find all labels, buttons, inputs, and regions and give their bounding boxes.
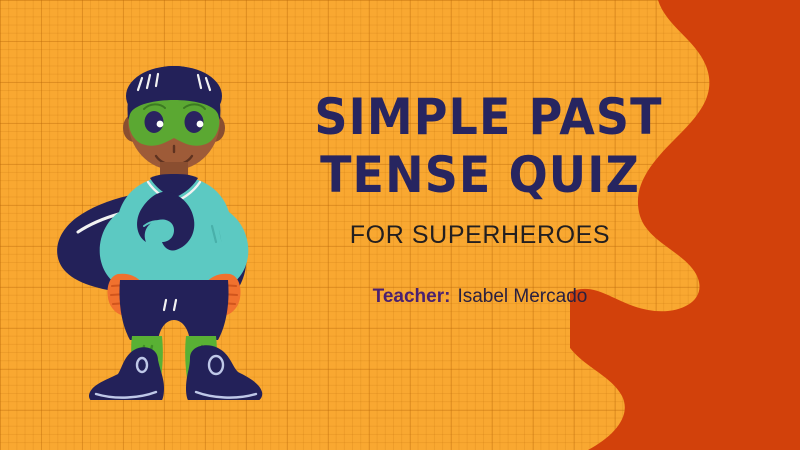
subtitle: FOR SUPERHEROES (300, 221, 660, 250)
teacher-credit: Teacher:Isabel Mercado (300, 286, 660, 308)
title-line-1: SIMPLE PAST (314, 88, 645, 146)
boots-shape (89, 345, 262, 400)
superhero-illustration (40, 50, 300, 400)
teacher-name: Isabel Mercado (457, 286, 587, 307)
teacher-label: Teacher: (373, 286, 451, 307)
shorts-shape (119, 280, 228, 340)
title-text-block: SIMPLE PAST TENSE QUIZ FOR SUPERHEROES T… (300, 88, 660, 308)
title-line-2: TENSE QUIZ (314, 146, 645, 204)
slide-canvas: SIMPLE PAST TENSE QUIZ FOR SUPERHEROES T… (0, 0, 800, 450)
